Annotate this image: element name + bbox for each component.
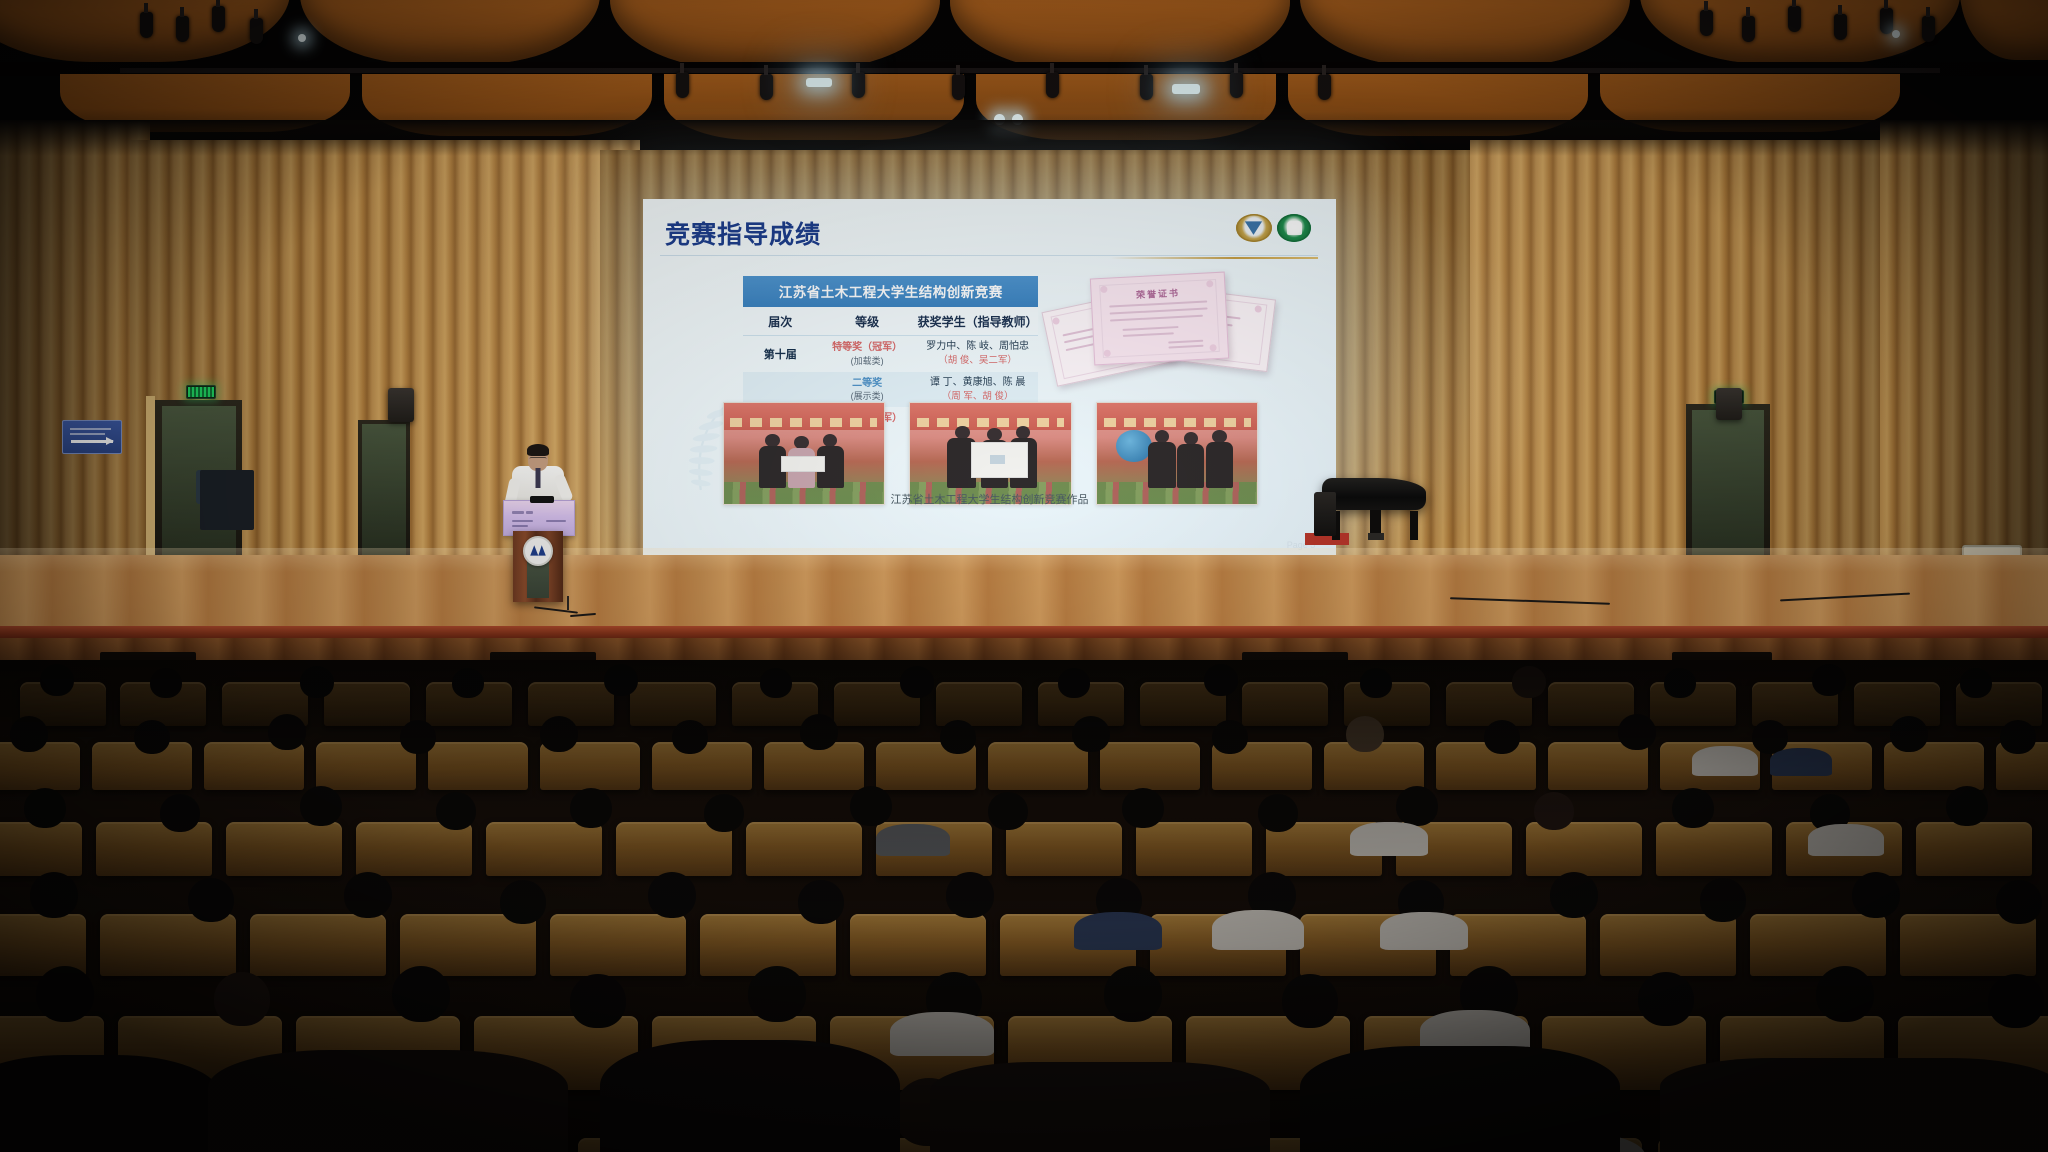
- audience-head: [798, 880, 844, 924]
- audience-head: [1996, 880, 2042, 924]
- students-main: 谭 丁、黄康旭、陈 晨: [917, 376, 1038, 390]
- audience-head: [1534, 792, 1574, 830]
- piano-bench: [1314, 492, 1336, 536]
- audience-head: [40, 664, 74, 696]
- table-banner: 江苏省土木工程大学生结构创新竞赛: [743, 276, 1038, 307]
- wall-speaker: [388, 388, 414, 422]
- audience-head: [2000, 720, 2036, 754]
- audience-head: [10, 716, 48, 752]
- audience-head: [436, 792, 476, 830]
- audience-head: [1672, 788, 1714, 828]
- title-divider: [660, 255, 1318, 256]
- grand-piano: [1322, 478, 1426, 540]
- wall-direction-sign: [62, 420, 122, 454]
- presentation-slide: 竞赛指导成绩 江苏省土木工程大学生结构创新竞赛 届次 等级 获奖学生（指导教师）…: [643, 199, 1336, 559]
- audience-shoulders: [1770, 748, 1832, 776]
- audience-shoulders: [890, 1012, 994, 1056]
- level-sub: (展示类): [817, 390, 917, 402]
- foreground-head: [600, 1040, 900, 1152]
- audience-head: [604, 664, 638, 696]
- audience-head: [1058, 668, 1090, 698]
- audience-head: [1282, 974, 1338, 1028]
- audience-shoulders: [1692, 746, 1758, 776]
- emergency-exit-sign: [186, 385, 216, 399]
- certificate-group: 荣誉证书: [1048, 275, 1277, 387]
- audience-head: [30, 872, 78, 918]
- audience-head: [1890, 716, 1928, 752]
- audience-head: [748, 966, 806, 1022]
- ceiling-light: [806, 78, 832, 87]
- audience-head: [1204, 664, 1238, 696]
- audience-head: [1360, 668, 1392, 698]
- audience-shoulders: [1074, 912, 1162, 950]
- audience-head: [392, 966, 450, 1022]
- stage-light-wash: [0, 548, 2048, 572]
- podium-microphone-base: [530, 496, 554, 503]
- ceiling-light: [1892, 30, 1900, 38]
- audience-head: [1258, 794, 1298, 832]
- audience-head: [946, 872, 994, 918]
- audience-shoulders: [1380, 912, 1468, 950]
- university-emblem-blue-icon: [1236, 214, 1272, 242]
- audience-head: [1484, 720, 1520, 754]
- audience-head: [1618, 714, 1656, 750]
- audience-shoulders: [1350, 822, 1428, 856]
- audience-head: [1550, 872, 1598, 918]
- audience-head: [1072, 716, 1110, 752]
- level-sub: (加载类): [817, 355, 917, 367]
- gold-accent-rule: [1110, 257, 1318, 259]
- audience-head: [1346, 716, 1384, 752]
- audience-head: [344, 872, 392, 918]
- audience-head: [24, 788, 66, 828]
- ceiling-light: [298, 34, 306, 42]
- audience-head: [400, 720, 436, 754]
- audience-head: [36, 966, 94, 1022]
- students-advisors: （周 军、胡 俊）: [917, 390, 1038, 403]
- audience-head: [1122, 788, 1164, 828]
- column-header-students: 获奖学生（指导教师）: [917, 313, 1038, 330]
- audience-head: [760, 668, 792, 698]
- table-header-row: 届次 等级 获奖学生（指导教师）: [743, 307, 1038, 336]
- audience-head: [900, 666, 934, 698]
- audience-head: [648, 872, 696, 918]
- audience-head: [268, 714, 306, 750]
- session-cell: 第十届: [764, 349, 797, 361]
- audience-head: [214, 972, 270, 1026]
- foreground-head: [1300, 1046, 1620, 1152]
- foreground-seat: [208, 1050, 568, 1152]
- column-header-session: 届次: [743, 313, 817, 330]
- speaker-podium: [503, 500, 573, 602]
- audience-head: [300, 786, 342, 826]
- audience-head: [500, 880, 546, 924]
- table-row: 第十届 特等奖（冠军） (加载类) 罗力中、陈 岐、周怕忠 （胡 俊、吴二军）: [743, 336, 1038, 371]
- audience-head: [1852, 872, 1900, 918]
- audience-head: [1812, 664, 1846, 696]
- audience-head: [1960, 668, 1992, 698]
- audience-head: [160, 794, 200, 832]
- foreground-seat: [1660, 1058, 2048, 1152]
- audience-head: [988, 792, 1028, 830]
- foreground-seat: [930, 1062, 1270, 1152]
- audience-shoulders: [1808, 824, 1884, 856]
- audience-head: [704, 794, 744, 832]
- audience-head: [570, 788, 612, 828]
- audience-head: [1664, 668, 1696, 698]
- slide-title: 竞赛指导成绩: [665, 215, 821, 251]
- audience-shoulders: [876, 824, 950, 856]
- audience-head: [1946, 786, 1988, 826]
- award-photo: [1096, 402, 1258, 505]
- audience-head: [940, 720, 976, 754]
- photo-group: 江苏省土木工程大学生结构创新竞赛作品: [723, 402, 1257, 503]
- certificate-image: 荣誉证书: [1090, 271, 1229, 365]
- audience-head: [1638, 972, 1694, 1026]
- level-main: 特等奖（冠军）: [817, 341, 917, 355]
- wall-speaker: [1716, 388, 1742, 420]
- ceiling-light: [1172, 84, 1200, 94]
- audience-head: [300, 666, 334, 698]
- audience-head: [1700, 878, 1746, 922]
- projection-screen: 竞赛指导成绩 江苏省土木工程大学生结构创新竞赛 届次 等级 获奖学生（指导教师）…: [643, 199, 1336, 559]
- audience-head: [850, 786, 892, 826]
- audience-head: [1988, 974, 2044, 1028]
- level-main: 二等奖: [817, 377, 917, 391]
- audience-head: [1104, 966, 1162, 1022]
- microphone-stand: [567, 596, 569, 610]
- award-photo: [909, 402, 1071, 505]
- auditorium-scene: 竞赛指导成绩 江苏省土木工程大学生结构创新竞赛 届次 等级 获奖学生（指导教师）…: [0, 0, 2048, 1152]
- foreground-head: [0, 1055, 220, 1152]
- audience-head: [1512, 666, 1546, 698]
- audience-head: [672, 720, 708, 754]
- column-header-level: 等级: [817, 313, 917, 330]
- audience-head: [188, 878, 234, 922]
- students-advisors: （胡 俊、吴二军）: [917, 354, 1038, 367]
- audience-head: [134, 720, 170, 754]
- interior-furniture: [200, 470, 254, 530]
- award-photo: [723, 402, 885, 505]
- audience-head: [570, 974, 626, 1028]
- audience-head: [1816, 966, 1874, 1022]
- audience-head: [452, 668, 484, 698]
- audience-head: [150, 668, 182, 698]
- podium-emblem-icon: [523, 536, 553, 566]
- university-emblem-green-icon: [1277, 214, 1311, 242]
- audience-head: [800, 714, 838, 750]
- photo-caption: 江苏省土木工程大学生结构创新竞赛作品: [723, 491, 1257, 507]
- audience-shoulders: [1212, 910, 1304, 950]
- upper-shadow: [0, 120, 2048, 156]
- audience-head: [1212, 720, 1248, 754]
- audience-head: [540, 716, 578, 752]
- audience-head: [1396, 786, 1438, 826]
- students-main: 罗力中、陈 岐、周怕忠: [917, 340, 1038, 354]
